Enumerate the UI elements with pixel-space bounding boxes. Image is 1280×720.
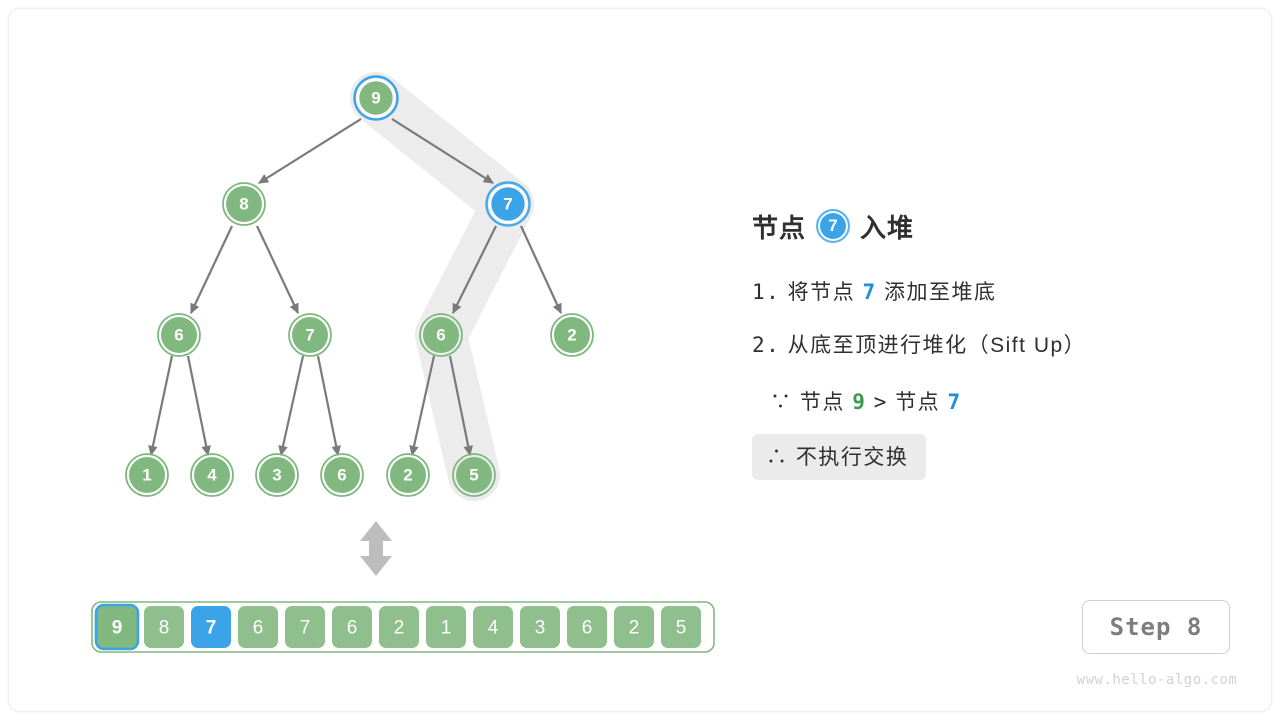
tree-node-label: 6 (436, 326, 445, 345)
tree-edge (257, 226, 298, 313)
tree-nodes: 9 8 7 6 (126, 77, 593, 497)
array-representation: 9 8 7 6 7 6 (92, 602, 714, 652)
because-symbol: ∵ (770, 391, 793, 414)
array-cell-5[interactable]: 6 (332, 606, 372, 648)
step-1-index: 1. (752, 280, 780, 304)
tree-node-8[interactable]: 8 (223, 183, 265, 225)
tree-node-6-left[interactable]: 6 (158, 314, 200, 356)
tree-node-leaf-3[interactable]: 3 (256, 454, 298, 496)
tree-node-9[interactable]: 9 (355, 77, 398, 120)
array-cell-label: 3 (535, 618, 546, 639)
step-badge: Step 8 (1082, 600, 1230, 654)
array-cell-label: 1 (441, 618, 452, 639)
tree-node-leaf-4[interactable]: 6 (321, 454, 363, 496)
array-cell-6[interactable]: 2 (379, 606, 419, 648)
page-title: 节点 7 入堆 (752, 205, 1222, 247)
array-cell-label: 6 (347, 618, 358, 639)
step-2-index: 2. (752, 333, 780, 357)
tree-node-label: 9 (371, 89, 380, 108)
array-cell-10[interactable]: 6 (567, 606, 607, 648)
tree-node-leaf-2[interactable]: 4 (191, 454, 233, 496)
tree-node-label: 6 (337, 466, 346, 485)
array-cell-3[interactable]: 6 (238, 606, 278, 648)
tree-edge (281, 356, 303, 455)
array-cell-0[interactable]: 9 (96, 605, 138, 649)
tree-array-link-arrow-icon (360, 521, 392, 576)
array-cell-label: 6 (253, 618, 264, 639)
watermark: www.hello-algo.com (1072, 672, 1242, 688)
step-list: 1. 将节点 7 添加至堆底 2. 从底至顶进行堆化（Sift Up） ∵ 节点… (752, 273, 1222, 480)
array-cell-9[interactable]: 3 (520, 606, 560, 648)
array-cell-label: 9 (112, 618, 123, 639)
array-cell-label: 4 (488, 618, 499, 639)
comparison-reason: ∵ 节点 9 > 节点 7 (752, 386, 1222, 416)
tree-node-label: 4 (207, 466, 217, 485)
array-cell-label: 7 (300, 618, 311, 639)
step-item-1: 1. 将节点 7 添加至堆底 (752, 273, 1222, 311)
tree-node-label: 2 (567, 326, 576, 345)
tree-edge (521, 226, 561, 313)
step-2-text: 从底至顶进行堆化（Sift Up） (788, 334, 1087, 357)
binary-tree-diagram: 9 8 7 6 (0, 0, 760, 720)
tree-node-leaf-1[interactable]: 1 (126, 454, 168, 496)
tree-node-label: 8 (239, 195, 248, 214)
reason-operator: > (874, 390, 888, 414)
array-cell-label: 6 (582, 618, 593, 639)
node-value-badge: 7 (816, 209, 850, 243)
tree-node-7-left[interactable]: 7 (289, 314, 331, 356)
array-cell-1[interactable]: 8 (144, 606, 184, 648)
array-cell-7[interactable]: 1 (426, 606, 466, 648)
array-cell-label: 2 (629, 618, 640, 639)
reason-left-value: 9 (852, 390, 866, 414)
array-cell-12[interactable]: 5 (661, 606, 701, 648)
diagram-stage: 9 8 7 6 (0, 0, 1280, 720)
reason-right-label: 节点 (895, 391, 940, 414)
tree-edge (188, 356, 208, 455)
array-cell-4[interactable]: 7 (285, 606, 325, 648)
conclusion-text: 不执行交换 (796, 446, 909, 469)
page-title-suffix: 入堆 (860, 208, 914, 245)
step-item-2: 2. 从底至顶进行堆化（Sift Up） (752, 326, 1222, 364)
tree-node-label: 5 (469, 466, 478, 485)
step-1-value: 7 (862, 280, 876, 304)
array-cell-label: 7 (206, 618, 217, 639)
tree-node-6-right[interactable]: 6 (420, 314, 462, 356)
step-1-text-before: 将节点 (788, 281, 856, 304)
tree-edge (318, 356, 338, 455)
array-cell-label: 5 (676, 618, 687, 639)
tree-edge (151, 356, 172, 455)
tree-node-leaf-6[interactable]: 5 (453, 454, 495, 496)
array-cell-11[interactable]: 2 (614, 606, 654, 648)
reason-right-value: 7 (948, 390, 962, 414)
tree-node-7-inserted[interactable]: 7 (487, 183, 530, 226)
tree-node-2-right[interactable]: 2 (551, 314, 593, 356)
array-cell-2[interactable]: 7 (191, 606, 231, 648)
sift-up-highlight-path (376, 98, 508, 475)
tree-node-label: 1 (142, 466, 151, 485)
step-1-text-after: 添加至堆底 (884, 281, 997, 304)
tree-edge (191, 226, 232, 313)
therefore-symbol: ∴ (766, 446, 789, 469)
tree-edge (259, 119, 361, 183)
conclusion-badge: ∴ 不执行交换 (752, 434, 926, 480)
reason-left-label: 节点 (800, 391, 845, 414)
tree-node-label: 3 (272, 466, 281, 485)
array-cell-label: 8 (159, 618, 170, 639)
array-cell-label: 2 (394, 618, 405, 639)
tree-node-leaf-5[interactable]: 2 (387, 454, 429, 496)
tree-node-label: 2 (403, 466, 412, 485)
page-title-prefix: 节点 (752, 208, 806, 245)
tree-node-label: 7 (503, 195, 512, 214)
tree-node-label: 6 (174, 326, 183, 345)
array-cell-8[interactable]: 4 (473, 606, 513, 648)
tree-node-label: 7 (305, 326, 314, 345)
explanation-panel: 节点 7 入堆 1. 将节点 7 添加至堆底 2. 从底至顶进行堆化（Sift … (752, 205, 1222, 480)
